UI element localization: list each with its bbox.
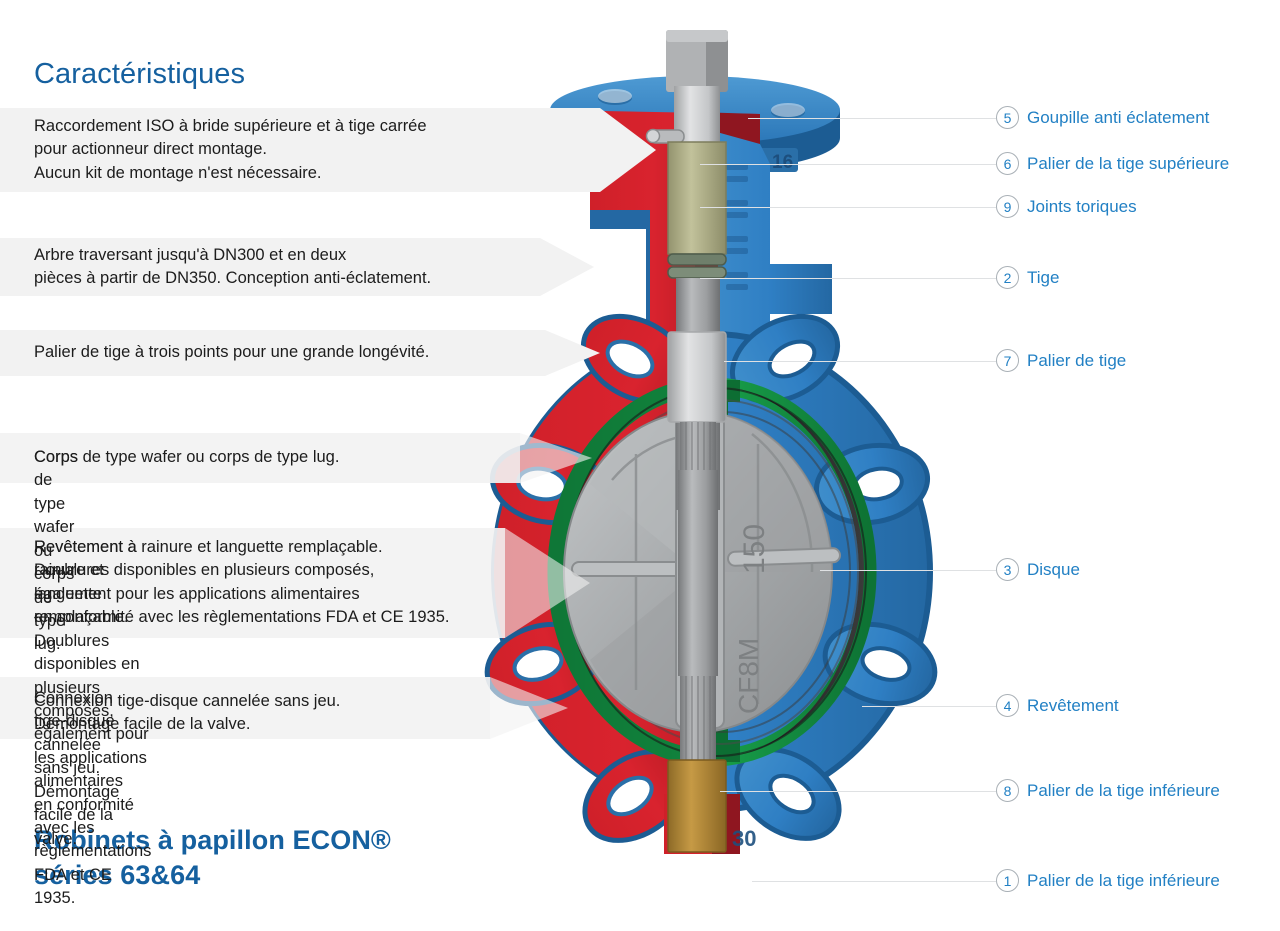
callout-number: 1 xyxy=(996,869,1019,892)
callout-number: 2 xyxy=(996,266,1019,289)
stem-spline-lower xyxy=(680,676,716,760)
callout-label: Revêtement xyxy=(1027,696,1119,716)
leader-line-2 xyxy=(700,278,996,279)
feature-overlay-stem-disc-arrow xyxy=(490,677,568,739)
callout-number: 8 xyxy=(996,779,1019,802)
feature-banner-liner: Revêtement à rainure et languette rempla… xyxy=(0,528,34,638)
callout-number: 5 xyxy=(996,106,1019,129)
callout-1[interactable]: 1 Palier de la tige inférieure xyxy=(996,869,1220,892)
callout-label: Palier de tige xyxy=(1027,351,1126,371)
lower-stem-bearing xyxy=(668,760,726,852)
callout-4[interactable]: 4 Revêtement xyxy=(996,694,1119,717)
callout-label: Disque xyxy=(1027,560,1080,580)
leader-line-5 xyxy=(748,118,996,119)
stem-bearing xyxy=(668,332,726,422)
callout-7[interactable]: 7 Palier de tige xyxy=(996,349,1126,372)
callout-2[interactable]: 2 Tige xyxy=(996,266,1059,289)
feature-text: Raccordement ISO à bride supérieure et à… xyxy=(34,115,427,185)
feature-text-stem-disc: Connexion tige-disque cannelée sans jeu.… xyxy=(34,690,340,737)
feature-overlay-liner-arrow xyxy=(505,528,590,638)
svg-text:150: 150 xyxy=(738,524,771,574)
leader-line-7 xyxy=(724,361,996,362)
feature-text: Arbre traversant jusqu'à DN300 et en deu… xyxy=(34,244,431,291)
page-title: Caractéristiques xyxy=(34,58,245,91)
leader-line-1 xyxy=(752,881,996,882)
feature-banner-iso-flange: Raccordement ISO à bride supérieure et à… xyxy=(0,108,600,192)
callout-label: Palier de la tige inférieure xyxy=(1027,781,1220,801)
callout-label: Palier de la tige inférieure xyxy=(1027,871,1220,891)
callout-number: 3 xyxy=(996,558,1019,581)
feature-banner-bearing: Palier de tige à trois points pour une g… xyxy=(0,330,545,376)
callout-5[interactable]: 5 Goupille anti éclatement xyxy=(996,106,1209,129)
feature-banner-shaft: Arbre traversant jusqu'à DN300 et en deu… xyxy=(0,238,540,296)
leader-line-3 xyxy=(820,570,996,571)
callout-label: Joints toriques xyxy=(1027,197,1137,217)
callout-label: Tige xyxy=(1027,268,1059,288)
leader-line-8 xyxy=(720,791,996,792)
leader-line-9 xyxy=(700,207,996,208)
callout-number: 6 xyxy=(996,152,1019,175)
feature-text-body-type: Corps de type wafer ou corps de type lug… xyxy=(34,446,339,469)
feature-text: Palier de tige à trois points pour une g… xyxy=(34,341,429,364)
upper-stem-bearing xyxy=(668,142,726,254)
callout-3[interactable]: 3 Disque xyxy=(996,558,1080,581)
leader-line-6 xyxy=(700,164,996,165)
stem-spline-upper xyxy=(680,422,716,470)
body-lower-marking: 30 xyxy=(732,826,756,851)
callout-number: 7 xyxy=(996,349,1019,372)
feature-overlay-body-type-arrow xyxy=(520,433,592,483)
callout-label: Palier de la tige supérieure xyxy=(1027,154,1229,174)
callout-6[interactable]: 6 Palier de la tige supérieure xyxy=(996,152,1229,175)
callout-label: Goupille anti éclatement xyxy=(1027,108,1209,128)
svg-text:CF8M: CF8M xyxy=(733,638,764,714)
leader-line-4 xyxy=(862,706,996,707)
callout-8[interactable]: 8 Palier de la tige inférieure xyxy=(996,779,1220,802)
feature-text-liner: Revêtement à rainure et languette rempla… xyxy=(34,536,449,630)
svg-text:30: 30 xyxy=(732,826,756,851)
svg-text:16: 16 xyxy=(772,152,793,173)
callout-number: 9 xyxy=(996,195,1019,218)
callout-number: 4 xyxy=(996,694,1019,717)
feature-banner-body-type: Corps de type wafer ou corps de type lug… xyxy=(0,433,34,483)
feature-banner-stem-disc: Connexion tige-disque cannelée sans jeu.… xyxy=(0,677,34,739)
callout-9[interactable]: 9 Joints toriques xyxy=(996,195,1137,218)
